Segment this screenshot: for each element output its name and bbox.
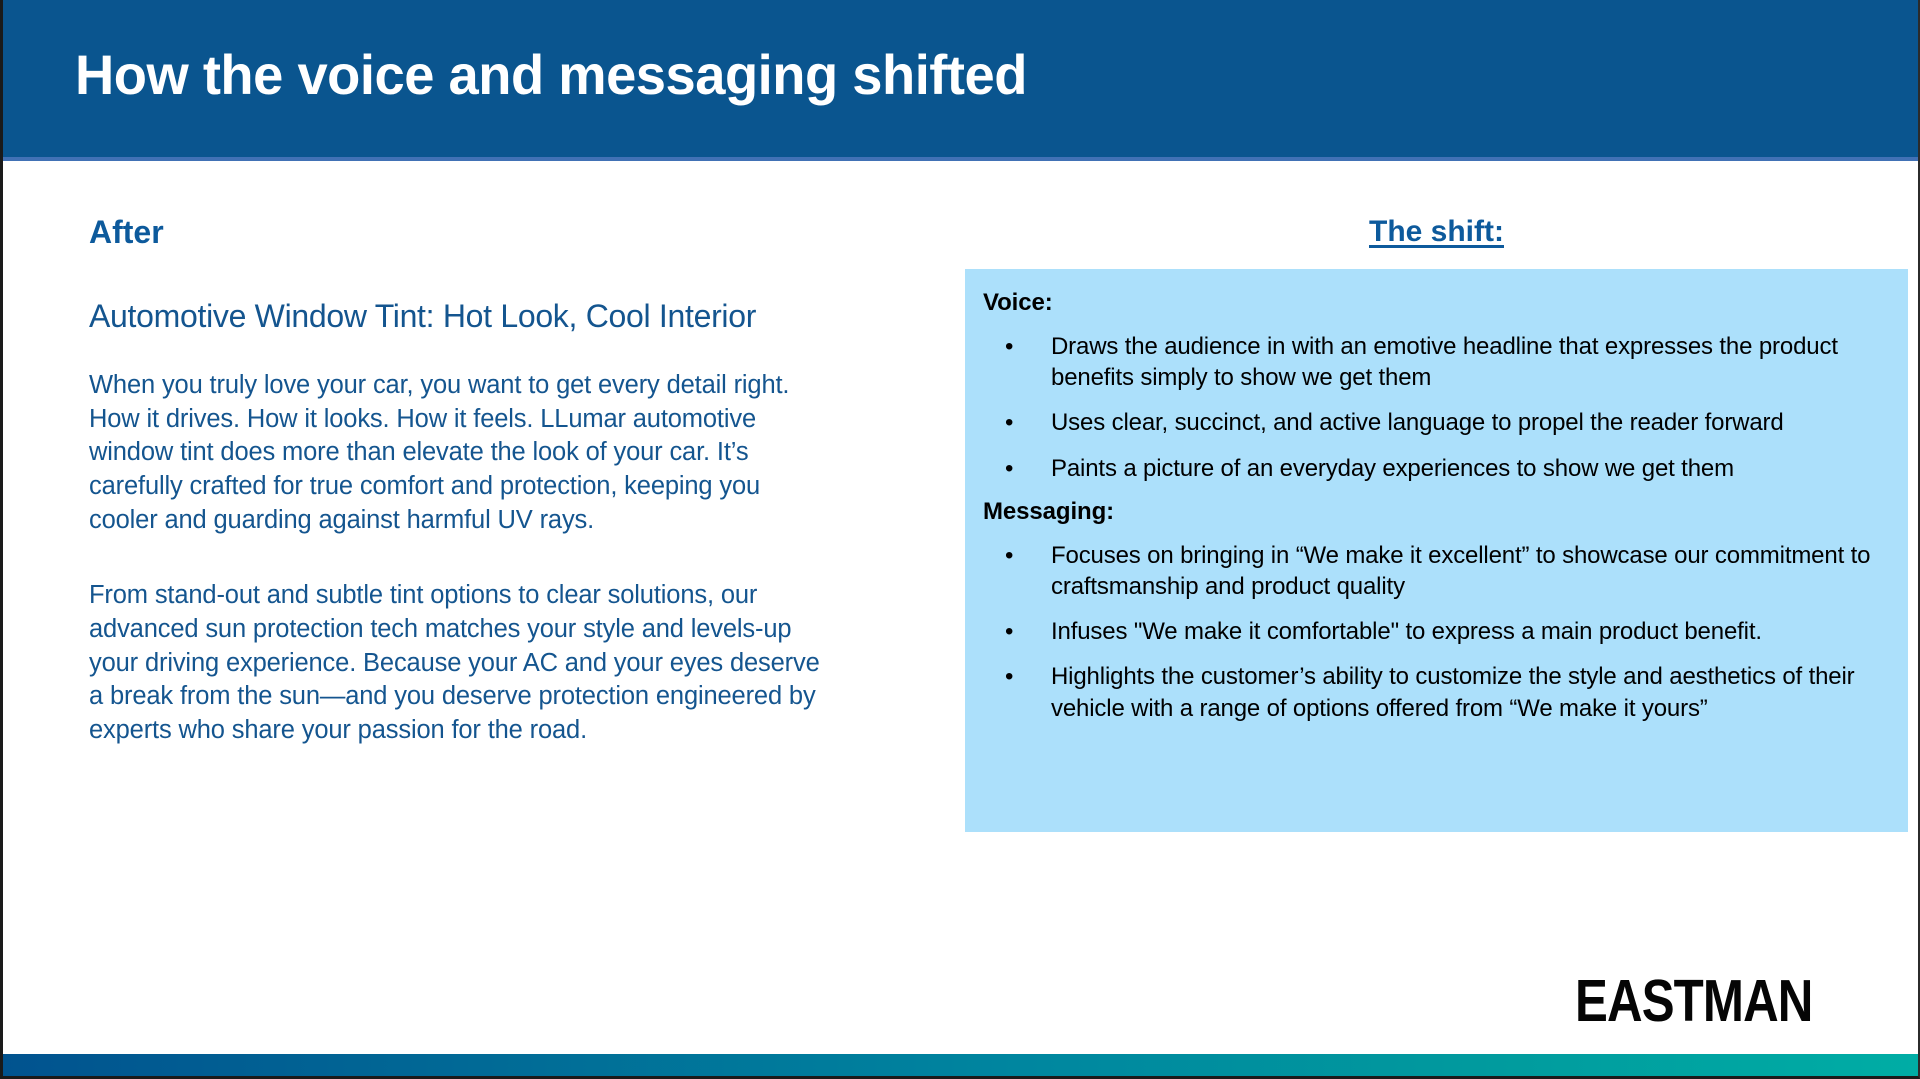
list-item: • Focuses on bringing in “We make it exc…	[983, 540, 1890, 602]
after-section-label: After	[89, 215, 859, 250]
list-item-text: Highlights the customer’s ability to cus…	[1051, 663, 1855, 721]
voice-bullet-list: • Draws the audience in with an emotive …	[983, 331, 1890, 484]
body-paragraph-2: From stand-out and subtle tint options t…	[89, 579, 829, 747]
footer-gradient-bar	[3, 1054, 1918, 1076]
bullet-dot-icon: •	[1005, 616, 1013, 647]
bullet-dot-icon: •	[1005, 331, 1013, 362]
list-item-text: Uses clear, succinct, and active languag…	[1051, 409, 1784, 436]
the-shift-panel: Voice: • Draws the audience in with an e…	[965, 269, 1908, 832]
bullet-dot-icon: •	[1005, 453, 1013, 484]
list-item: • Paints a picture of an everyday experi…	[983, 453, 1890, 484]
eastman-logo: EASTMAN	[1575, 966, 1813, 1035]
messaging-bullet-list: • Focuses on bringing in “We make it exc…	[983, 540, 1890, 724]
slide-canvas: How the voice and messaging shifted Afte…	[0, 0, 1920, 1079]
left-content-column: After Automotive Window Tint: Hot Look, …	[89, 215, 859, 748]
list-item-text: Paints a picture of an everyday experien…	[1051, 455, 1734, 482]
article-headline: Automotive Window Tint: Hot Look, Cool I…	[89, 298, 859, 335]
voice-section-label: Voice:	[983, 289, 1890, 317]
page-title: How the voice and messaging shifted	[75, 42, 1027, 107]
list-item: • Infuses "We make it comfortable" to ex…	[983, 616, 1890, 647]
messaging-section-label: Messaging:	[983, 498, 1890, 526]
list-item-text: Infuses "We make it comfortable" to expr…	[1051, 618, 1762, 645]
list-item: • Uses clear, succinct, and active langu…	[983, 407, 1890, 438]
title-band-underline	[3, 157, 1918, 161]
body-paragraph-1: When you truly love your car, you want t…	[89, 369, 829, 537]
list-item: • Highlights the customer’s ability to c…	[983, 661, 1890, 723]
list-item-text: Focuses on bringing in “We make it excel…	[1051, 542, 1870, 600]
list-item-text: Draws the audience in with an emotive he…	[1051, 333, 1838, 391]
bullet-dot-icon: •	[1005, 407, 1013, 438]
the-shift-heading: The shift:	[965, 215, 1908, 249]
bullet-dot-icon: •	[1005, 661, 1013, 692]
bullet-dot-icon: •	[1005, 540, 1013, 571]
list-item: • Draws the audience in with an emotive …	[983, 331, 1890, 393]
